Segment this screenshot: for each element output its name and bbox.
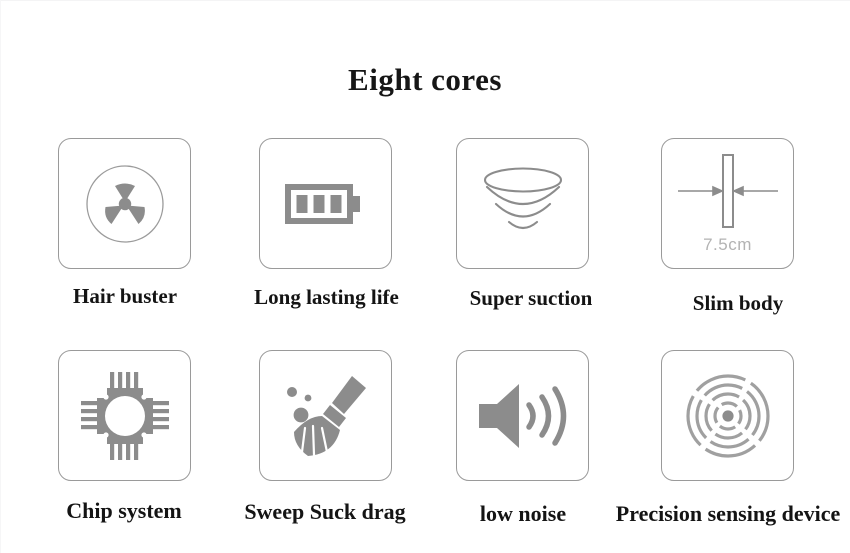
feature-label-long-lasting-life: Long lasting life	[234, 285, 419, 310]
cpu-chip-icon	[59, 351, 190, 480]
feature-label-sweep-suck-drag: Sweep Suck drag	[225, 499, 425, 525]
feature-label-precision-sensing-device: Precision sensing device	[583, 501, 850, 527]
slim-body-dimension-label: 7.5cm	[662, 235, 793, 255]
feature-card-super-suction[interactable]	[456, 138, 589, 269]
battery-icon	[260, 139, 391, 268]
feature-card-sweep-suck-drag[interactable]	[259, 350, 392, 481]
feature-label-low-noise: low noise	[443, 501, 603, 527]
feature-label-super-suction: Super suction	[443, 286, 619, 311]
feature-card-low-noise[interactable]	[456, 350, 589, 481]
fan-radiation-icon	[59, 139, 190, 268]
thickness-measure-icon	[662, 139, 793, 282]
feature-card-slim-body[interactable]: 7.5cm	[661, 138, 794, 269]
broom-sweep-icon	[260, 351, 391, 480]
feature-card-long-lasting-life[interactable]	[259, 138, 392, 269]
feature-card-chip-system[interactable]	[58, 350, 191, 481]
feature-label-slim-body: Slim body	[652, 291, 824, 316]
vortex-suction-icon	[457, 139, 588, 268]
feature-card-hair-buster[interactable]	[58, 138, 191, 269]
feature-grid-page: Eight cores Hair buster	[0, 0, 850, 553]
features-grid: Hair buster Long lasting life	[0, 0, 850, 553]
feature-card-precision-sensing-device[interactable]	[661, 350, 794, 481]
feature-label-hair-buster: Hair buster	[40, 284, 210, 309]
speaker-sound-icon	[457, 351, 588, 480]
radar-sensor-icon	[662, 351, 793, 480]
feature-label-chip-system: Chip system	[38, 498, 210, 524]
